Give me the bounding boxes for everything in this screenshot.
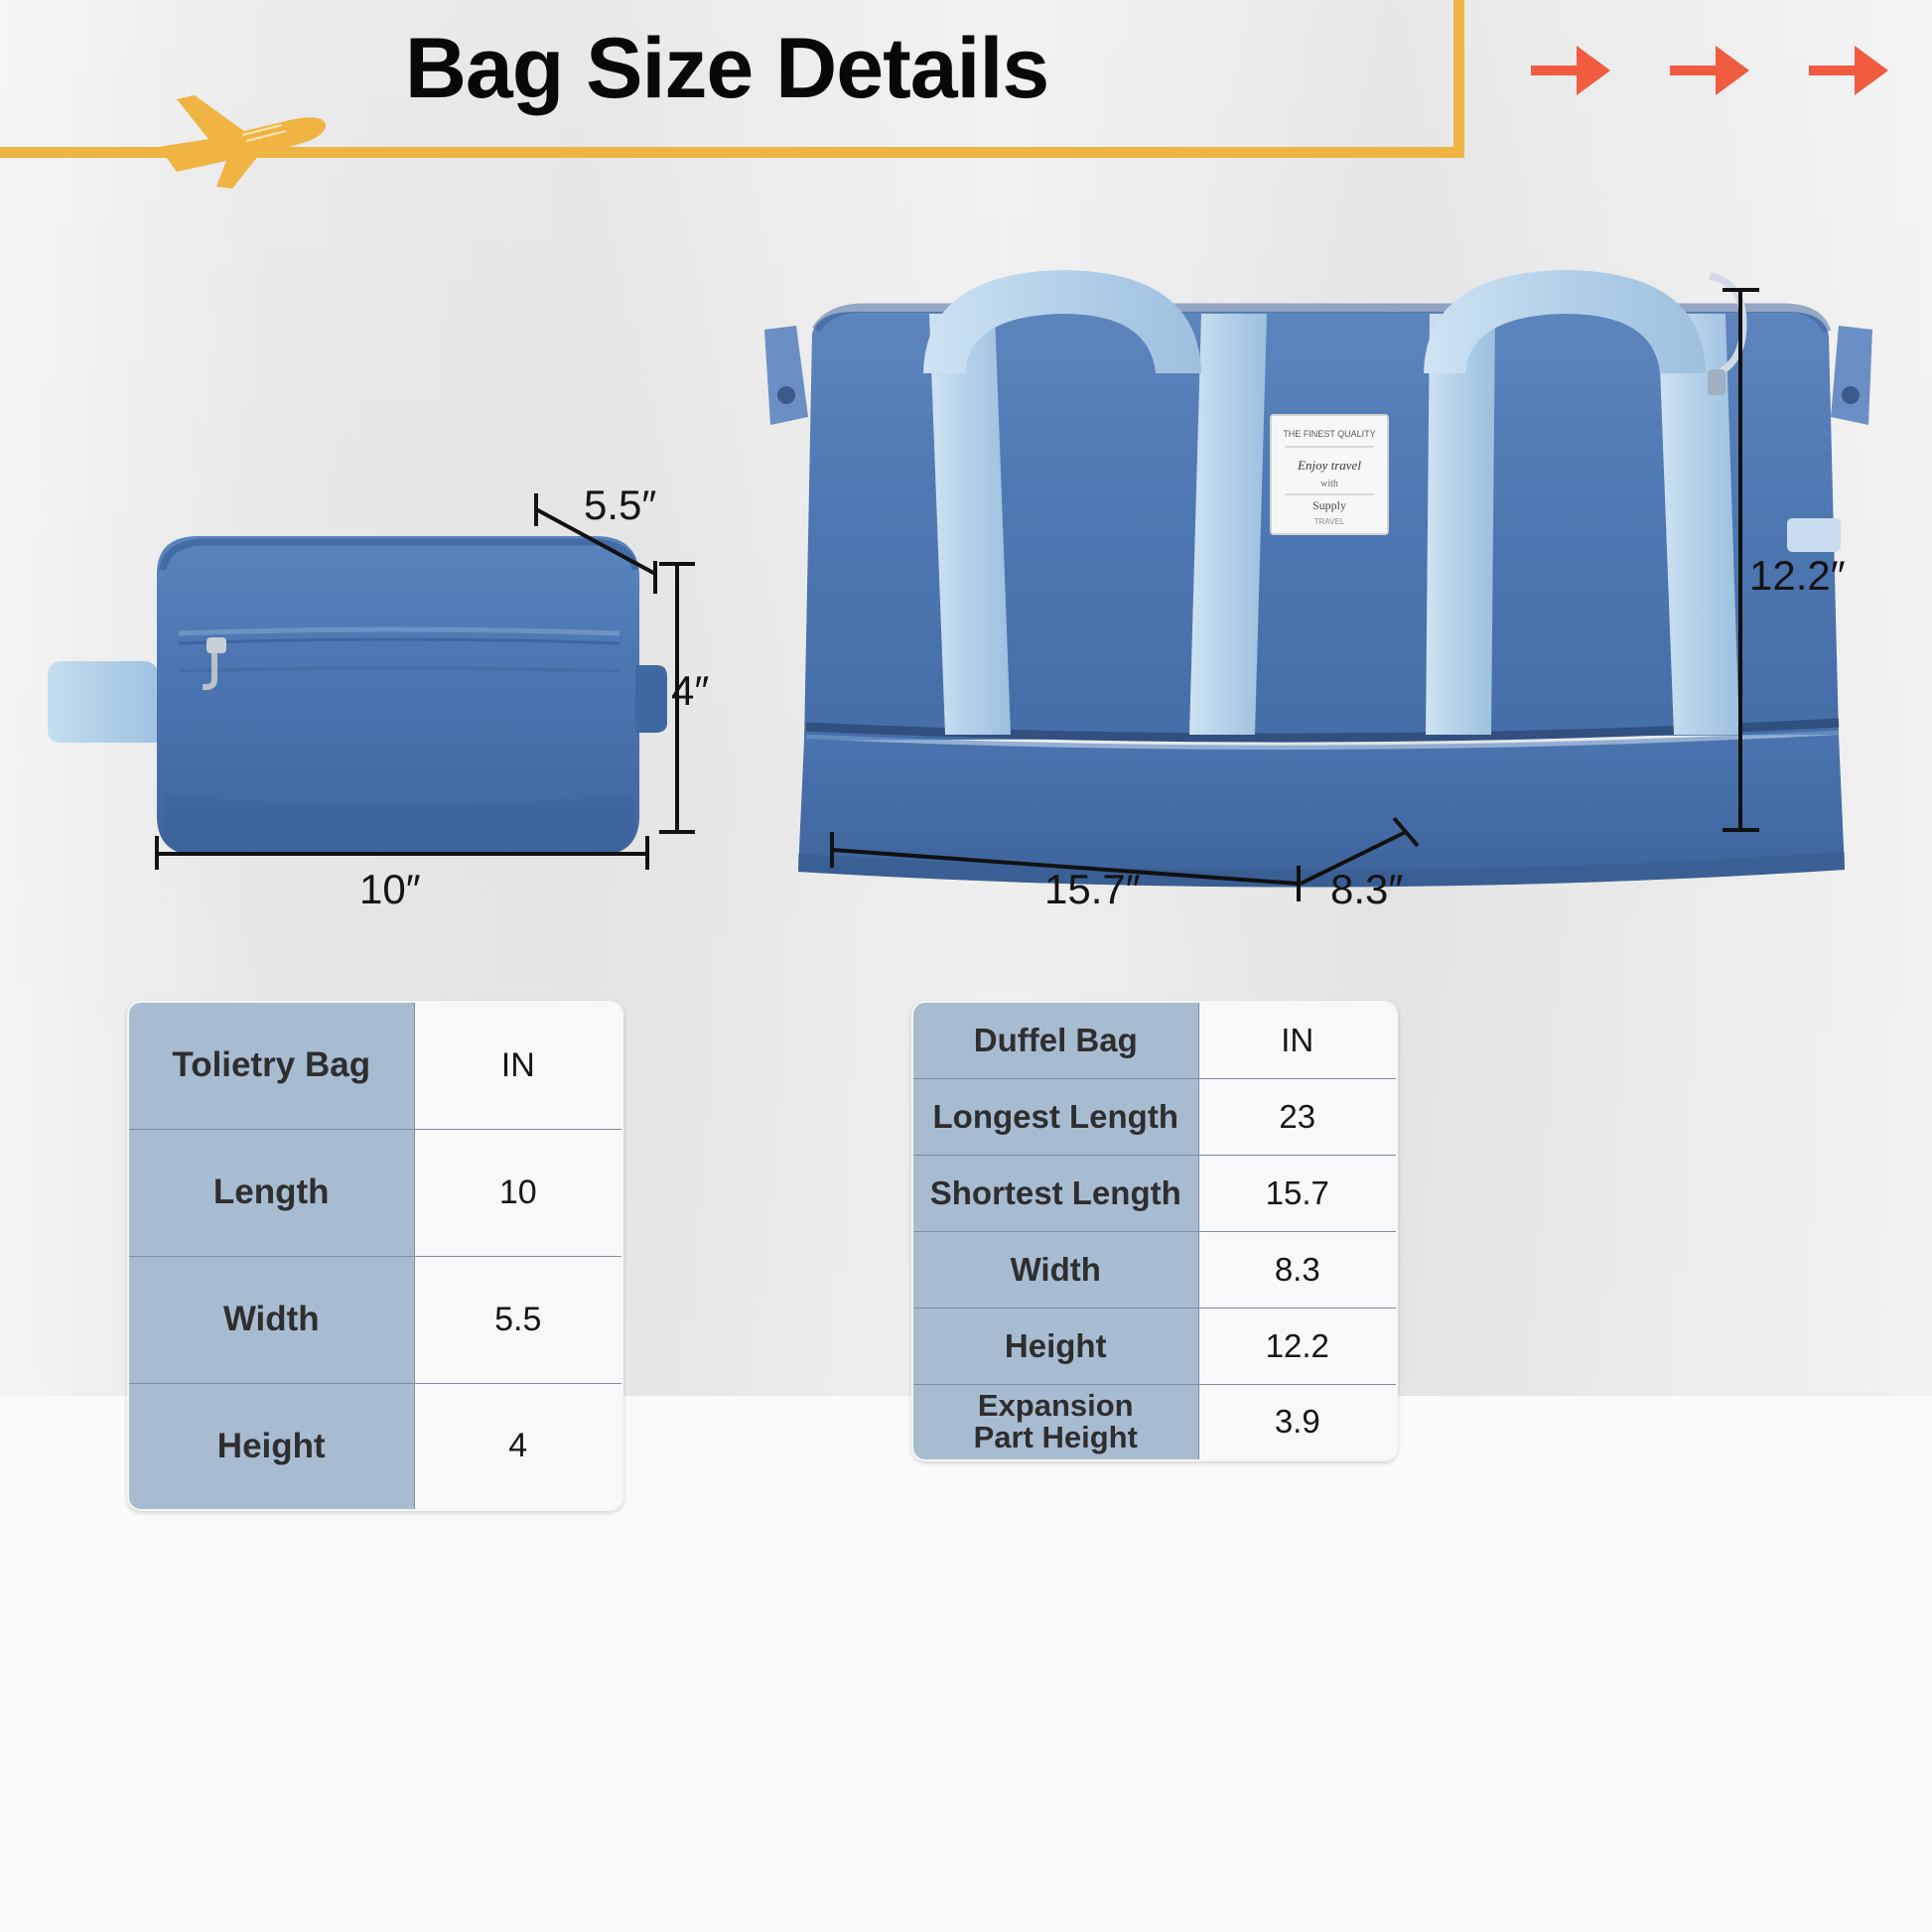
toiletry-row-value: 5.5 — [414, 1256, 622, 1383]
table-row: Height 12.2 — [912, 1308, 1397, 1384]
duffel-row-label: Longest Length — [912, 1078, 1198, 1155]
arrow-right-icon — [1529, 40, 1612, 101]
dimension-label-toiletry-length: 10″ — [359, 866, 421, 913]
svg-text:TRAVEL: TRAVEL — [1314, 517, 1345, 526]
duffel-right-tab — [1831, 326, 1872, 425]
duffel-table-unit: IN — [1198, 1002, 1397, 1078]
table-row: Width 5.5 — [128, 1256, 622, 1383]
arrow-right-icon — [1807, 40, 1890, 101]
arrow-right-icon — [1668, 40, 1751, 101]
dimension-label-duffel-length: 15.7″ — [1044, 866, 1141, 913]
header-rule-vertical — [1453, 0, 1464, 158]
duffel-row-value: 3.9 — [1198, 1384, 1397, 1460]
table-row-header: Duffel Bag IN — [912, 1002, 1397, 1078]
duffel-row-value: 23 — [1198, 1078, 1397, 1155]
dimension-label-toiletry-height: 4″ — [671, 667, 709, 715]
dimension-label-toiletry-width: 5.5″ — [584, 482, 656, 529]
toiletry-row-label: Height — [128, 1383, 414, 1510]
toiletry-right-tab — [635, 665, 667, 733]
table-row: ExpansionPart Height 3.9 — [912, 1384, 1397, 1460]
page-title: Bag Size Details — [0, 20, 1453, 118]
toiletry-table-title: Tolietry Bag — [128, 1002, 414, 1129]
toiletry-bag-image — [40, 467, 854, 933]
duffel-row-value: 15.7 — [1198, 1155, 1397, 1231]
toiletry-table-unit: IN — [414, 1002, 622, 1129]
svg-text:THE FINEST QUALITY: THE FINEST QUALITY — [1283, 429, 1375, 439]
duffel-row-label: Shortest Length — [912, 1155, 1198, 1231]
table-row: Width 8.3 — [912, 1231, 1397, 1308]
toiletry-row-value: 10 — [414, 1129, 622, 1256]
toiletry-spec-table: Tolietry Bag IN Length 10 Width 5.5 Heig… — [127, 1001, 623, 1511]
duffel-brand-tag: THE FINEST QUALITY Enjoy travel with Sup… — [1271, 415, 1388, 534]
table-row: Shortest Length 15.7 — [912, 1155, 1397, 1231]
duffel-left-tab — [764, 326, 808, 425]
svg-text:Enjoy travel: Enjoy travel — [1297, 458, 1361, 473]
svg-text:with: with — [1320, 479, 1338, 489]
dimension-label-duffel-height: 12.2″ — [1749, 552, 1846, 600]
table-row: Length 10 — [128, 1129, 622, 1256]
svg-text:Supply: Supply — [1312, 498, 1346, 512]
dimension-label-duffel-width: 8.3″ — [1330, 866, 1403, 913]
duffel-row-label: ExpansionPart Height — [912, 1384, 1198, 1460]
toiletry-row-label: Width — [128, 1256, 414, 1383]
table-row: Height 4 — [128, 1383, 622, 1510]
table-row: Longest Length 23 — [912, 1078, 1397, 1155]
duffel-row-value: 12.2 — [1198, 1308, 1397, 1384]
duffel-row-value: 8.3 — [1198, 1231, 1397, 1308]
duffel-spec-table: Duffel Bag IN Longest Length 23 Shortest… — [911, 1001, 1398, 1461]
duffel-table-title: Duffel Bag — [912, 1002, 1198, 1078]
duffel-row-label: Height — [912, 1308, 1198, 1384]
infographic-canvas: Bag Size Details — [0, 0, 1932, 1932]
duffel-zipper-cord — [1648, 270, 1777, 429]
duffel-side-keeper — [1787, 518, 1841, 552]
toiletry-row-label: Length — [128, 1129, 414, 1256]
arrow-row — [1529, 40, 1890, 101]
duffel-row-label: Width — [912, 1231, 1198, 1308]
toiletry-row-value: 4 — [414, 1383, 622, 1510]
toiletry-side-strap — [48, 661, 159, 743]
table-row-header: Tolietry Bag IN — [128, 1002, 622, 1129]
